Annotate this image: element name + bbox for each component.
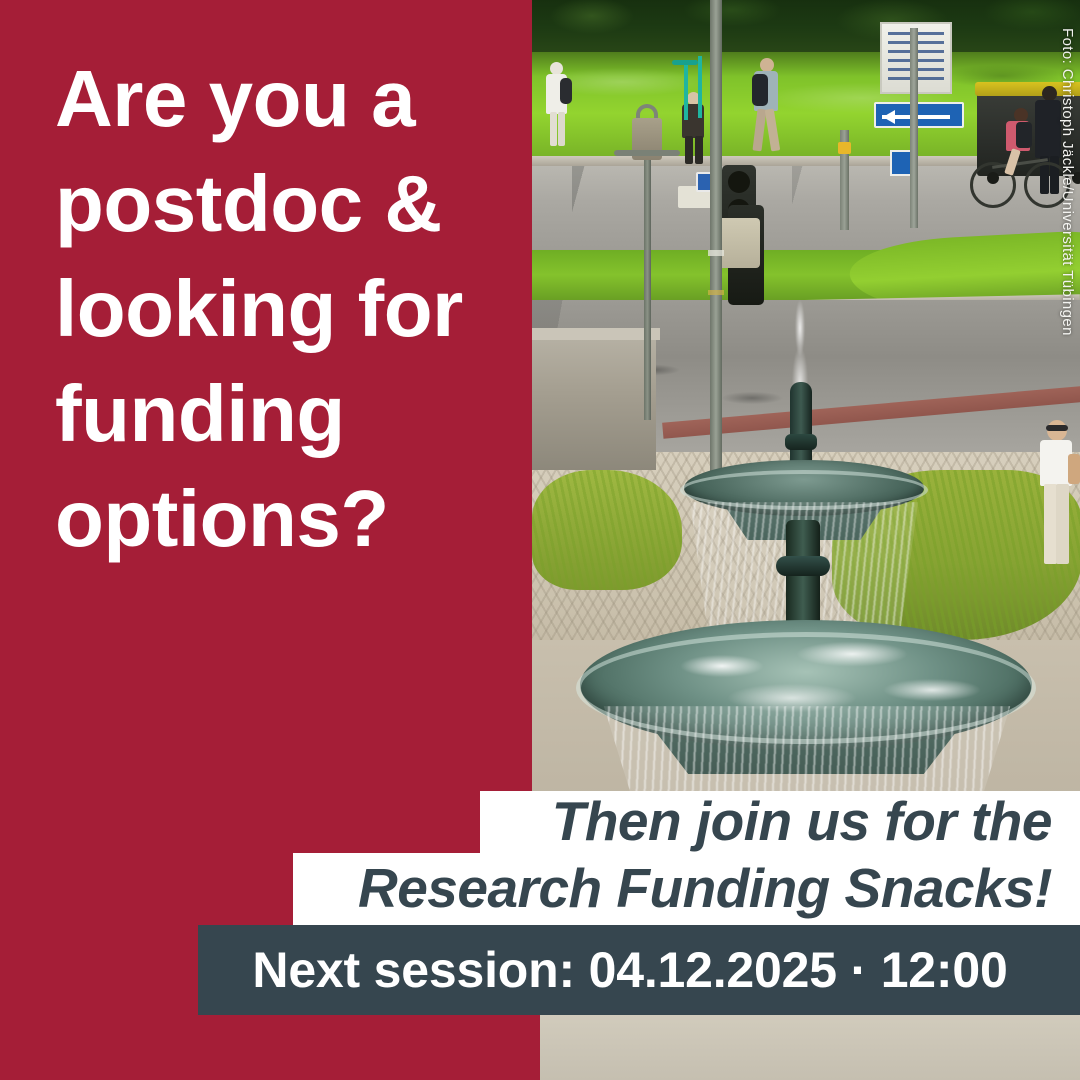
session-info: Next session: 04.12.2025 · 12:00: [198, 925, 1080, 1015]
tagline-band-lower: [293, 853, 1080, 925]
tagline-band-upper: [480, 791, 1080, 853]
e-scooter: [684, 60, 688, 120]
photo-credit: Foto: Christoph Jäckle/Universität Tübin…: [1059, 28, 1076, 336]
pedestrian: [750, 58, 784, 162]
e-scooter: [698, 56, 702, 118]
fountain-stem-knob: [776, 556, 830, 576]
headline-line-5: options?: [55, 466, 515, 571]
headline-line-1: Are you a: [55, 46, 515, 151]
one-way-arrow-sign: [874, 102, 964, 128]
bollard-reflector: [838, 142, 851, 154]
headline-line-3: looking for: [55, 256, 515, 361]
headline-line-4: funding: [55, 361, 515, 466]
sign-post: [910, 28, 918, 228]
e-scooter-handlebar: [672, 60, 698, 65]
red-panel-footer: [0, 1015, 540, 1080]
cyclist: [1002, 108, 1036, 178]
headline-line-2: postdoc &: [55, 151, 515, 256]
pedestrian: [544, 62, 570, 148]
poster-canvas: Foto: Christoph Jäckle/Universität Tübin…: [0, 0, 1080, 1080]
page-title: Are you a postdoc & looking for funding …: [55, 46, 515, 571]
lamp-arm: [614, 150, 680, 156]
